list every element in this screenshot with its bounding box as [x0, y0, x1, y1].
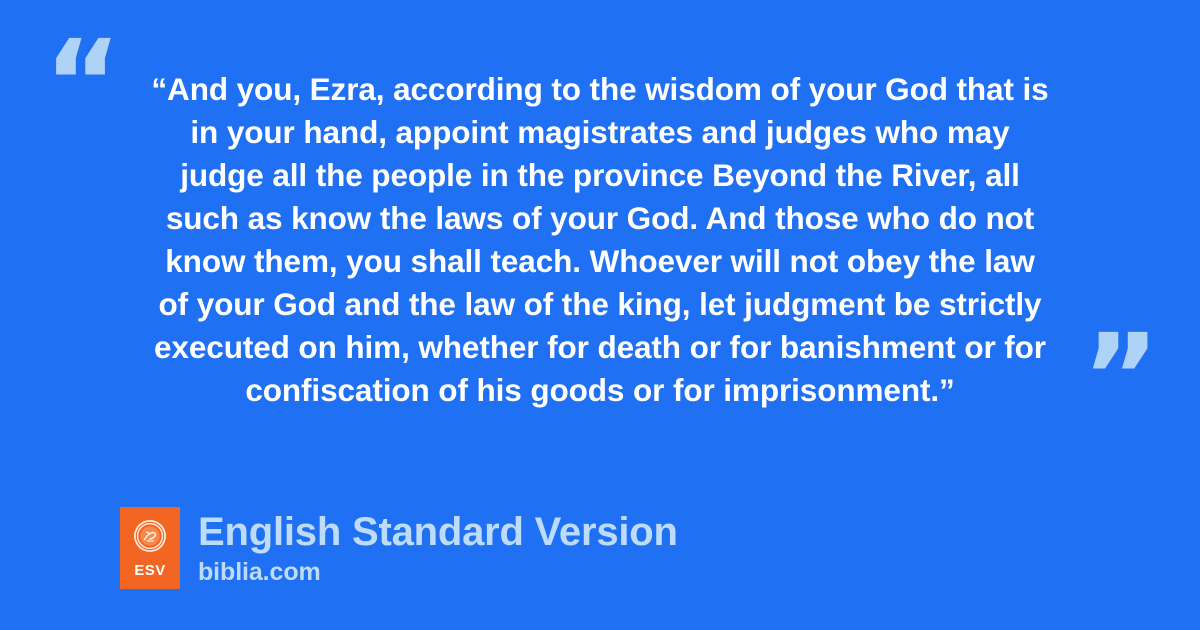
- esv-logo-badge: ESV: [120, 507, 180, 589]
- quote-line: executed on him, whether for death or fo…: [154, 329, 1046, 365]
- quote-line: confiscation of his goods or for impriso…: [245, 372, 954, 408]
- circular-seal-icon: [133, 519, 167, 553]
- quote-line: know them, you shall teach. Whoever will…: [165, 243, 1034, 279]
- attribution-text-group: English Standard Version biblia.com: [198, 507, 678, 587]
- quote-block: “And you, Ezra, according to the wisdom …: [118, 68, 1082, 412]
- quote-line: of your God and the law of the king, let…: [159, 286, 1042, 322]
- quote-line: “And you, Ezra, according to the wisdom …: [151, 71, 1048, 107]
- bible-edition-name: English Standard Version: [198, 508, 678, 556]
- closing-quote-mark-icon: ”: [1082, 318, 1160, 436]
- quote-text: “And you, Ezra, according to the wisdom …: [118, 68, 1082, 412]
- opening-quote-mark-icon: “: [44, 24, 122, 142]
- quote-line: judge all the people in the province Bey…: [180, 157, 1020, 193]
- esv-logo-abbreviation: ESV: [134, 562, 165, 579]
- quote-line: in your hand, appoint magistrates and ju…: [190, 114, 1009, 150]
- site-url[interactable]: biblia.com: [198, 557, 678, 587]
- quote-line: such as know the laws of your God. And t…: [166, 200, 1034, 236]
- attribution-footer: ESV English Standard Version biblia.com: [120, 507, 678, 589]
